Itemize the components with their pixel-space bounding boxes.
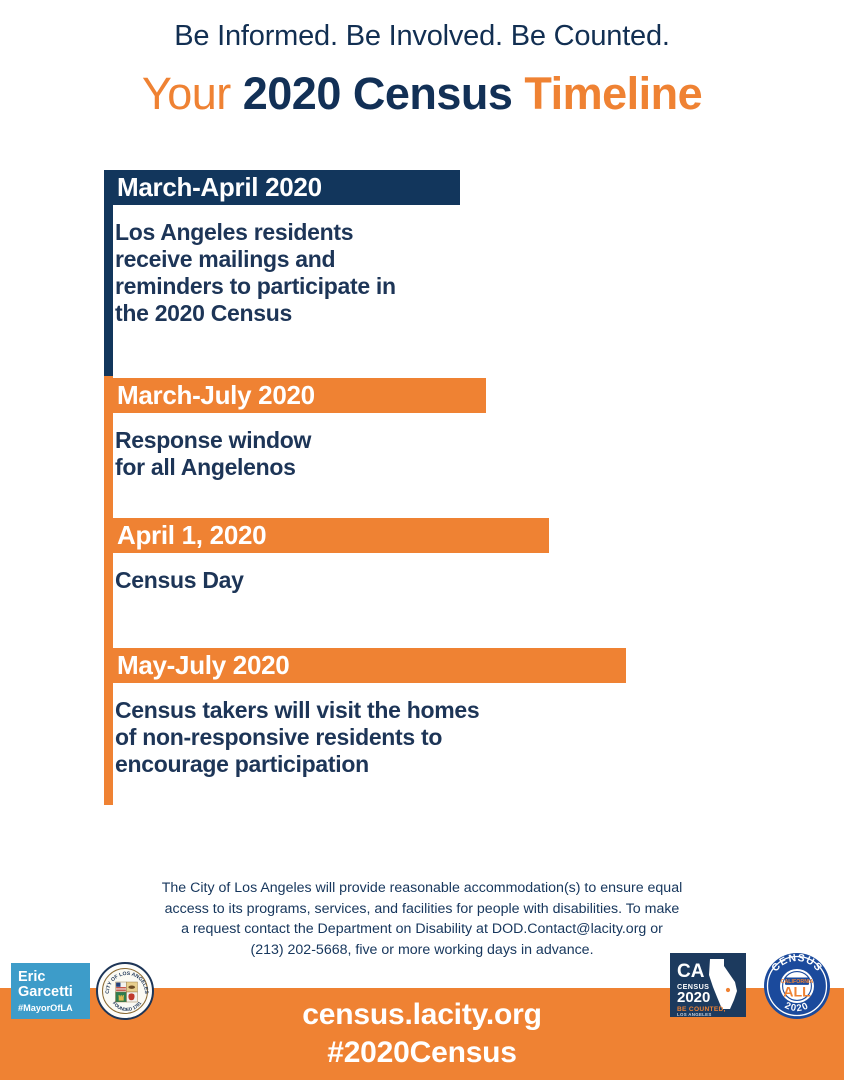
mayor-handle: #MayorOfLA (18, 1003, 90, 1013)
timeline-entry-2-date: March-July 2020 (104, 380, 315, 411)
timeline-entry-1-body: Los Angeles residents receive mailings a… (115, 219, 460, 328)
accessibility-disclaimer: The City of Los Angeles will provide rea… (85, 878, 759, 960)
timeline-entry-4-bar: May-July 2020 (104, 648, 626, 683)
timeline-entry-1-bar: March-April 2020 (104, 170, 460, 205)
timeline-entry-2: March-July 2020 Response window for all … (104, 378, 486, 481)
mayor-name: Eric Garcetti (18, 970, 90, 1001)
census-timeline-poster: Be Informed. Be Involved. Be Counted. Yo… (0, 0, 844, 1080)
timeline-entry-3: April 1, 2020 Census Day (104, 518, 549, 594)
census-hashtag[interactable]: #2020Census (0, 1034, 844, 1072)
timeline-entry-1: March-April 2020 Los Angeles residents r… (104, 170, 460, 328)
svg-text:ALL: ALL (783, 984, 811, 1000)
ca-badge-city: LOS ANGELES (677, 1012, 712, 1017)
timeline-entry-4-date: May-July 2020 (104, 650, 289, 681)
timeline-entry-2-bar: March-July 2020 (104, 378, 486, 413)
timeline-entry-3-date: April 1, 2020 (104, 520, 266, 551)
ca-census-2020-badge-icon: CA CENSUS 2020 BE COUNTED, LOS ANGELES (670, 953, 746, 1017)
timeline-entry-1-date: March-April 2020 (104, 172, 322, 203)
timeline-entry-3-bar: April 1, 2020 (104, 518, 549, 553)
census-california-all-badge-icon: CENSUS 2020 CALIFORNIA ALL CENSUS CALIFO… (763, 952, 831, 1020)
ca-badge-state: CA (677, 962, 704, 981)
timeline-entry-2-body: Response window for all Angelenos (115, 427, 486, 481)
timeline-entry-3-body: Census Day (115, 567, 549, 594)
city-of-los-angeles-seal-icon: CITY OF LOS ANGELES FOUNDED 1781 (96, 962, 154, 1020)
ca-badge-year: 2020 (677, 990, 710, 1005)
mayor-garcetti-logo: Eric Garcetti #MayorOfLA (11, 963, 90, 1019)
timeline-entry-4: May-July 2020 Census takers will visit t… (104, 648, 626, 778)
timeline-entry-4-body: Census takers will visit the homes of no… (115, 697, 626, 778)
